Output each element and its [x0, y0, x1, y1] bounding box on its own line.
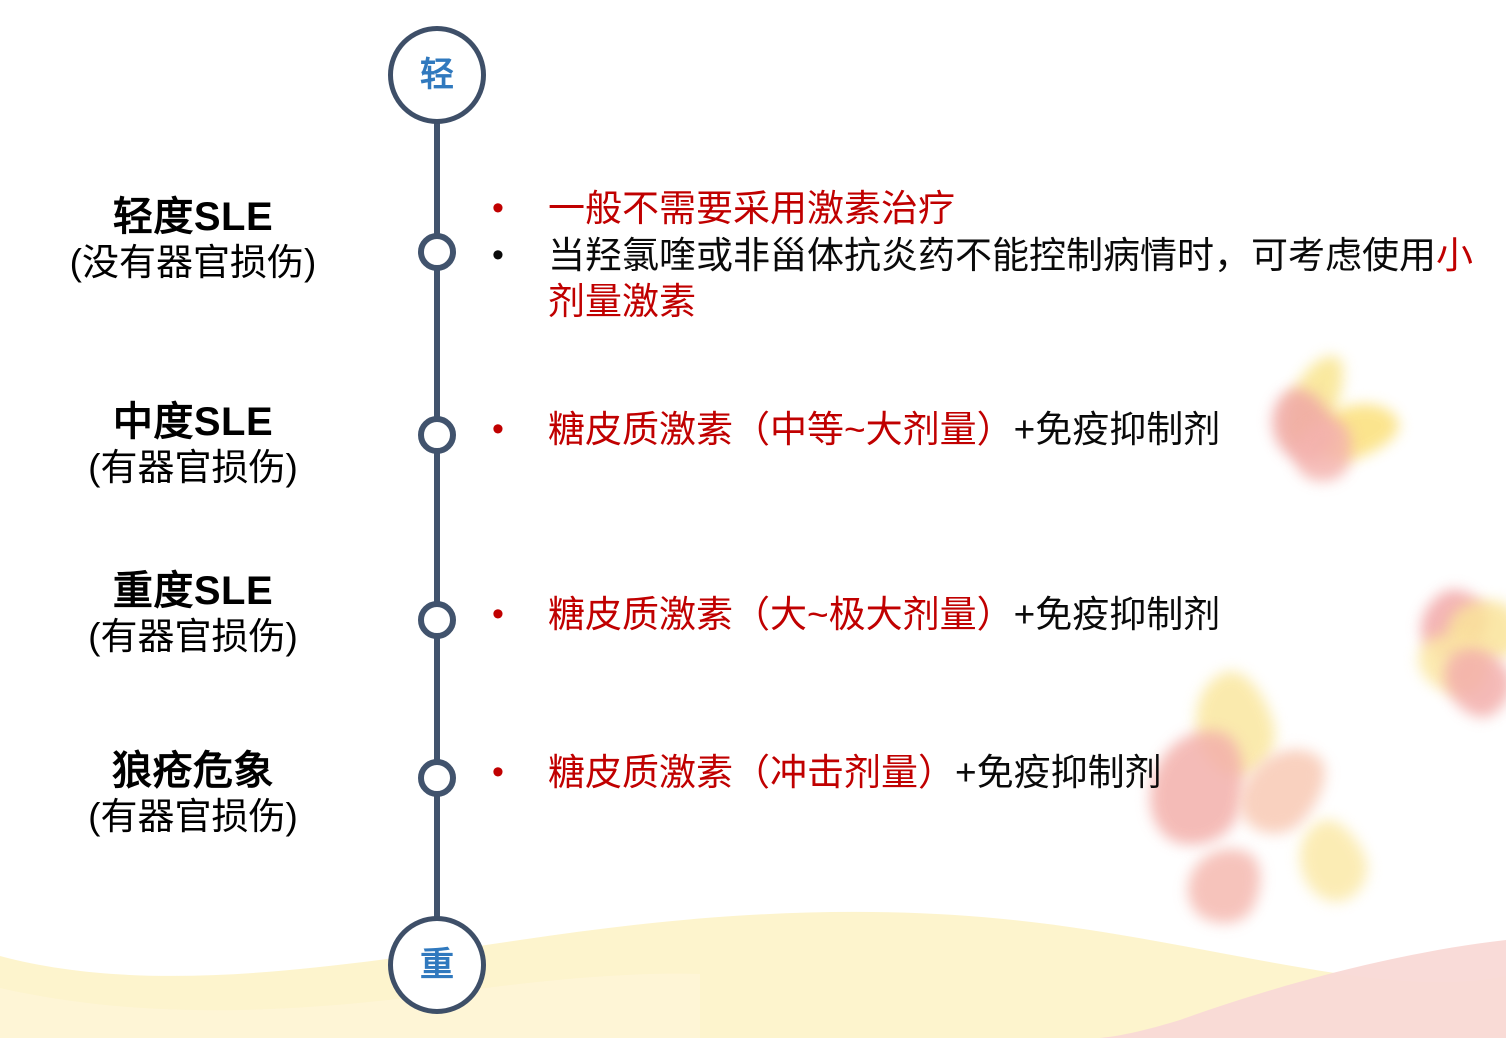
treatment-bullet-text: 一般不需要采用激素治疗: [548, 186, 1502, 233]
treatment-block-crisis: •糖皮质激素（冲击剂量）+免疫抑制剂: [492, 750, 1502, 797]
text-segment-red: 糖皮质激素（中等~大剂量）: [548, 409, 1014, 450]
timeline-axis: [434, 95, 440, 935]
stage-title: 重度SLE: [0, 568, 386, 615]
timeline-endpoint-mild: 轻: [388, 26, 486, 124]
text-segment-black: +免疫抑制剂: [1014, 409, 1221, 450]
petal-shape: [1286, 811, 1378, 912]
stage-subtitle: (有器官损伤): [0, 795, 386, 839]
treatment-bullet-text: 糖皮质激素（大~极大剂量）+免疫抑制剂: [548, 592, 1502, 639]
stage-label-crisis: 狼疮危象 (有器官损伤): [0, 748, 386, 839]
treatment-bullet: •糖皮质激素（冲击剂量）+免疫抑制剂: [492, 750, 1502, 797]
treatment-bullet: •糖皮质激素（中等~大剂量）+免疫抑制剂: [492, 407, 1502, 454]
decorative-background: [0, 0, 1506, 1038]
text-segment-red: 糖皮质激素（大~极大剂量）: [548, 594, 1014, 635]
stage-label-mild: 轻度SLE (没有器官损伤): [0, 194, 386, 285]
treatment-bullet: •糖皮质激素（大~极大剂量）+免疫抑制剂: [492, 592, 1502, 639]
treatment-block-mild: •一般不需要采用激素治疗•当羟氯喹或非甾体抗炎药不能控制病情时，可考虑使用小剂量…: [492, 186, 1502, 326]
petal-shape: [1176, 835, 1273, 936]
text-segment-black: 当羟氯喹或非甾体抗炎药不能控制病情时，可考虑使用: [548, 235, 1436, 276]
timeline-node-mild: [418, 233, 456, 271]
treatment-bullet-text: 当羟氯喹或非甾体抗炎药不能控制病情时，可考虑使用小剂量激素: [548, 233, 1502, 326]
treatment-bullet-text: 糖皮质激素（中等~大剂量）+免疫抑制剂: [548, 407, 1502, 454]
treatment-block-severe: •糖皮质激素（大~极大剂量）+免疫抑制剂: [492, 592, 1502, 639]
text-segment-black: +免疫抑制剂: [1014, 594, 1221, 635]
timeline-node-severe: [418, 601, 456, 639]
stage-title: 轻度SLE: [0, 194, 386, 241]
stage-label-moderate: 中度SLE (有器官损伤): [0, 399, 386, 490]
timeline-endpoint-severe: 重: [388, 916, 486, 1014]
text-segment-black: +免疫抑制剂: [955, 752, 1162, 793]
stage-subtitle: (没有器官损伤): [0, 241, 386, 285]
treatment-bullet-text: 糖皮质激素（冲击剂量）+免疫抑制剂: [548, 750, 1502, 797]
slide-canvas: 轻 重 轻度SLE (没有器官损伤) 中度SLE (有器官损伤) 重度SLE (…: [0, 0, 1506, 1038]
bullet-marker-icon: •: [492, 407, 548, 452]
bullet-marker-icon: •: [492, 750, 548, 795]
timeline-endpoint-severe-label: 重: [420, 948, 454, 982]
text-segment-red: 糖皮质激素（冲击剂量）: [548, 752, 955, 793]
stage-subtitle: (有器官损伤): [0, 615, 386, 659]
bullet-marker-icon: •: [492, 186, 548, 231]
treatment-bullet: •一般不需要采用激素治疗: [492, 186, 1502, 233]
petal-shape: [1433, 634, 1506, 728]
stage-label-severe: 重度SLE (有器官损伤): [0, 568, 386, 659]
treatment-block-moderate: •糖皮质激素（中等~大剂量）+免疫抑制剂: [492, 407, 1502, 454]
treatment-bullet: •当羟氯喹或非甾体抗炎药不能控制病情时，可考虑使用小剂量激素: [492, 233, 1502, 326]
timeline-endpoint-mild-label: 轻: [420, 58, 454, 92]
stage-title: 狼疮危象: [0, 748, 386, 795]
bullet-marker-icon: •: [492, 233, 548, 278]
text-segment-red: 一般不需要采用激素治疗: [548, 188, 955, 229]
stage-title: 中度SLE: [0, 399, 386, 446]
timeline-node-crisis: [418, 759, 456, 797]
timeline-node-moderate: [418, 416, 456, 454]
bottom-wave-decoration: [0, 848, 1506, 1038]
bullet-marker-icon: •: [492, 592, 548, 637]
stage-subtitle: (有器官损伤): [0, 446, 386, 490]
